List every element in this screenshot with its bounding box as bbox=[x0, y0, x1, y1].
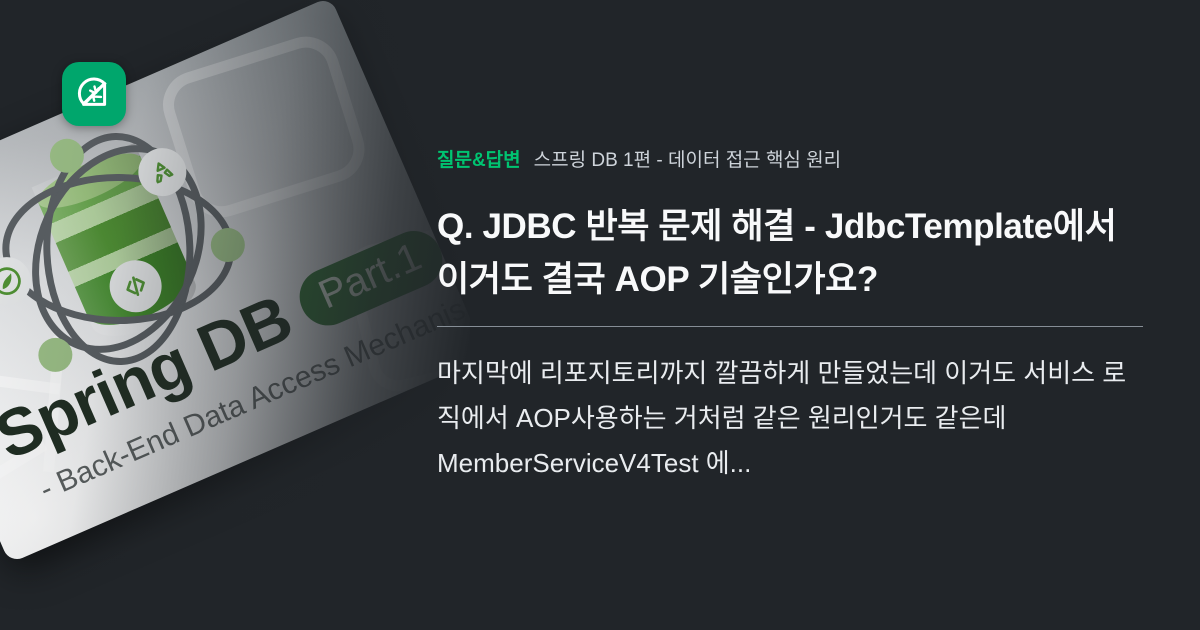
category-tag: 질문&답변 bbox=[437, 145, 521, 172]
og-share-card: Spring DB Part.1 - Back-End Data Access … bbox=[0, 0, 1200, 630]
question-content: 질문&답변 스프링 DB 1편 - 데이터 접근 핵심 원리 Q. JDBC 반… bbox=[437, 0, 1145, 630]
course-name[interactable]: 스프링 DB 1편 - 데이터 접근 핵심 원리 bbox=[534, 145, 841, 172]
meta-row: 질문&답변 스프링 DB 1편 - 데이터 접근 핵심 원리 bbox=[437, 145, 1145, 172]
divider bbox=[437, 326, 1143, 327]
question-body-preview: 마지막에 리포지토리까지 깔끔하게 만들었는데 이거도 서비스 로직에서 AOP… bbox=[437, 351, 1145, 485]
question-title: Q. JDBC 반복 문제 해결 - JdbcTemplate에서 이거도 결국… bbox=[437, 200, 1145, 306]
inflearn-logo-icon[interactable] bbox=[62, 62, 126, 126]
